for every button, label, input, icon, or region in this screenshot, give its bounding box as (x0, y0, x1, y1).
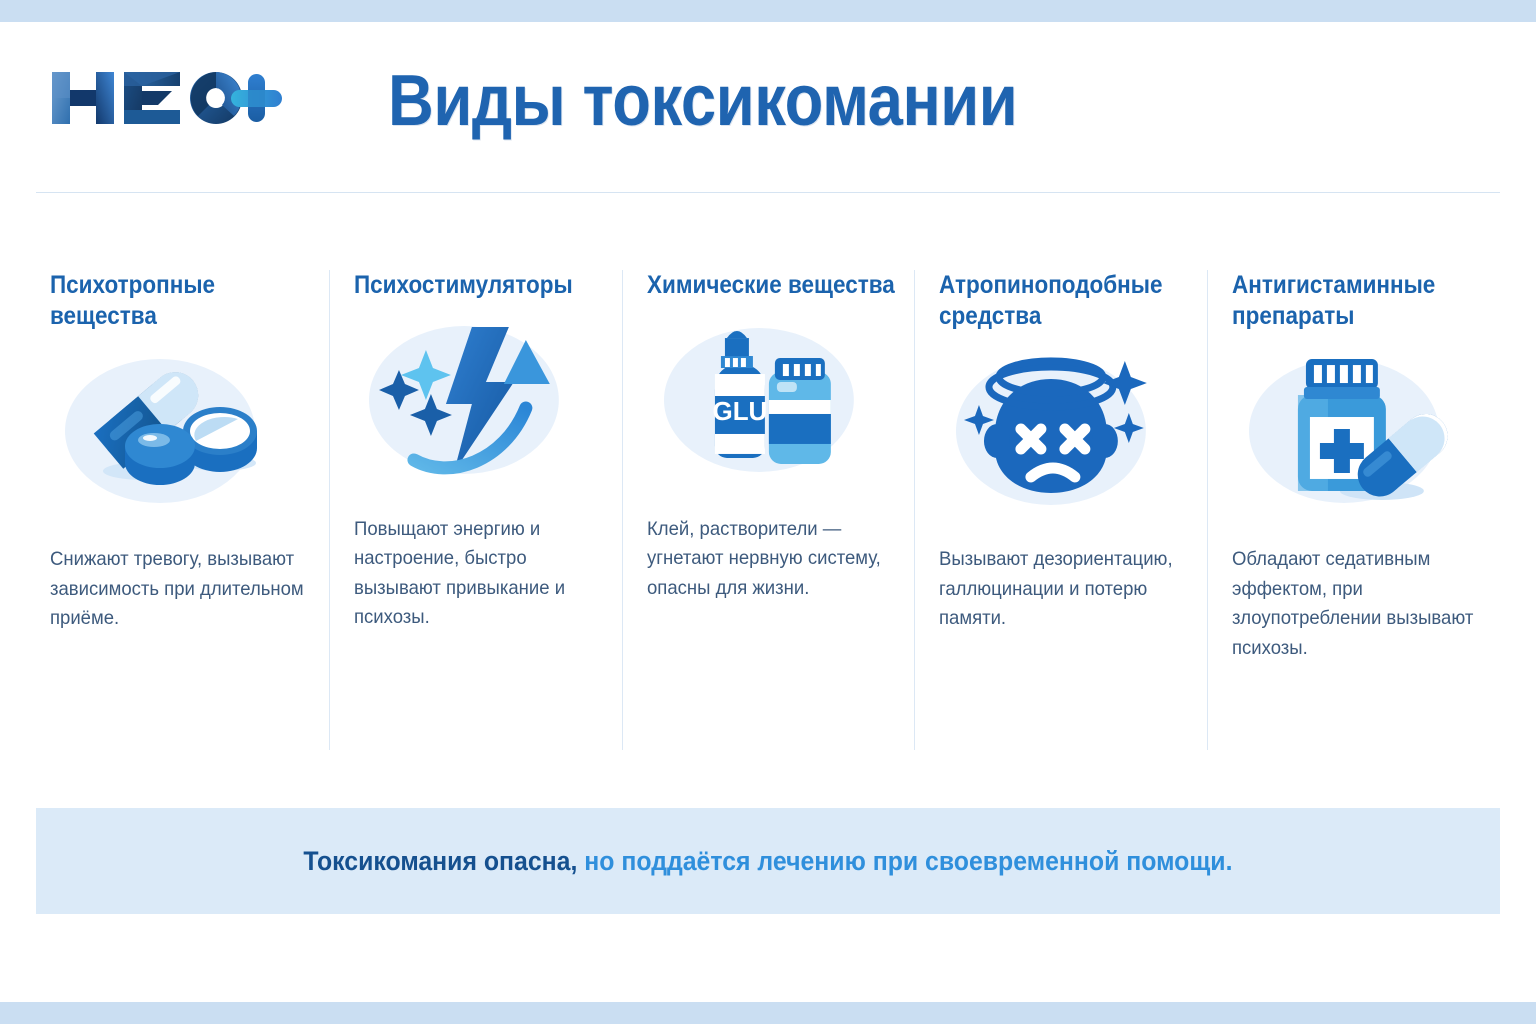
category-column-chemicals: Химические вещества (622, 270, 915, 750)
category-column-stimulants: Психостимуляторы (329, 270, 622, 750)
category-column-antihistamine: Антигистаминные препараты (1207, 270, 1500, 750)
category-title: Химические вещества (647, 270, 897, 301)
category-description: Повыщают энергию и настроение, быстро вы… (354, 515, 603, 634)
categories-row: Психотропные вещества (36, 270, 1500, 750)
header: Виды токсикомании (0, 22, 1536, 192)
content-card: Виды токсикомании Психотропные вещества (0, 22, 1536, 1002)
category-column-atropine: Атропиноподобные средства (914, 270, 1207, 750)
category-title: Атропиноподобные средства (939, 270, 1189, 331)
page-title: Виды токсикомании (388, 60, 1017, 142)
category-description: Клей, растворители — угнетают нервную си… (647, 515, 896, 604)
category-column-psychotropic: Психотропные вещества (36, 270, 329, 750)
neo-plus-logo (48, 64, 288, 132)
glue-label: GLU (712, 396, 767, 426)
banner-strong-text: Токсикомания опасна, (303, 846, 577, 876)
pills-capsule-icon (50, 341, 311, 519)
category-description: Обладают седативным эффектом, при злоупо… (1232, 545, 1481, 664)
banner-text: Токсикомания опасна, но поддаётся лечени… (303, 846, 1232, 877)
category-description: Вызывают дезориентацию, галлюцинации и п… (939, 545, 1188, 634)
dizzy-face-icon (939, 341, 1189, 519)
infographic-page: Виды токсикомании Психотропные вещества (0, 0, 1536, 1024)
category-description: Снижают тревогу, вызывают зависимость пр… (50, 545, 310, 634)
glue-solvent-bottles-icon: GLU (647, 311, 897, 489)
category-title: Психостимуляторы (354, 270, 604, 301)
bottom-accent-band (0, 1002, 1536, 1024)
header-divider (36, 192, 1500, 193)
category-title: Антигистаминные препараты (1232, 270, 1482, 331)
lightning-bolt-arrow-icon (354, 311, 604, 489)
category-title: Психотропные вещества (50, 270, 311, 331)
footer-banner: Токсикомания опасна, но поддаётся лечени… (36, 808, 1500, 914)
top-accent-band (0, 0, 1536, 22)
banner-light-text: но поддаётся лечению при своевременной п… (577, 846, 1232, 876)
medicine-bottle-capsule-icon (1232, 341, 1482, 519)
